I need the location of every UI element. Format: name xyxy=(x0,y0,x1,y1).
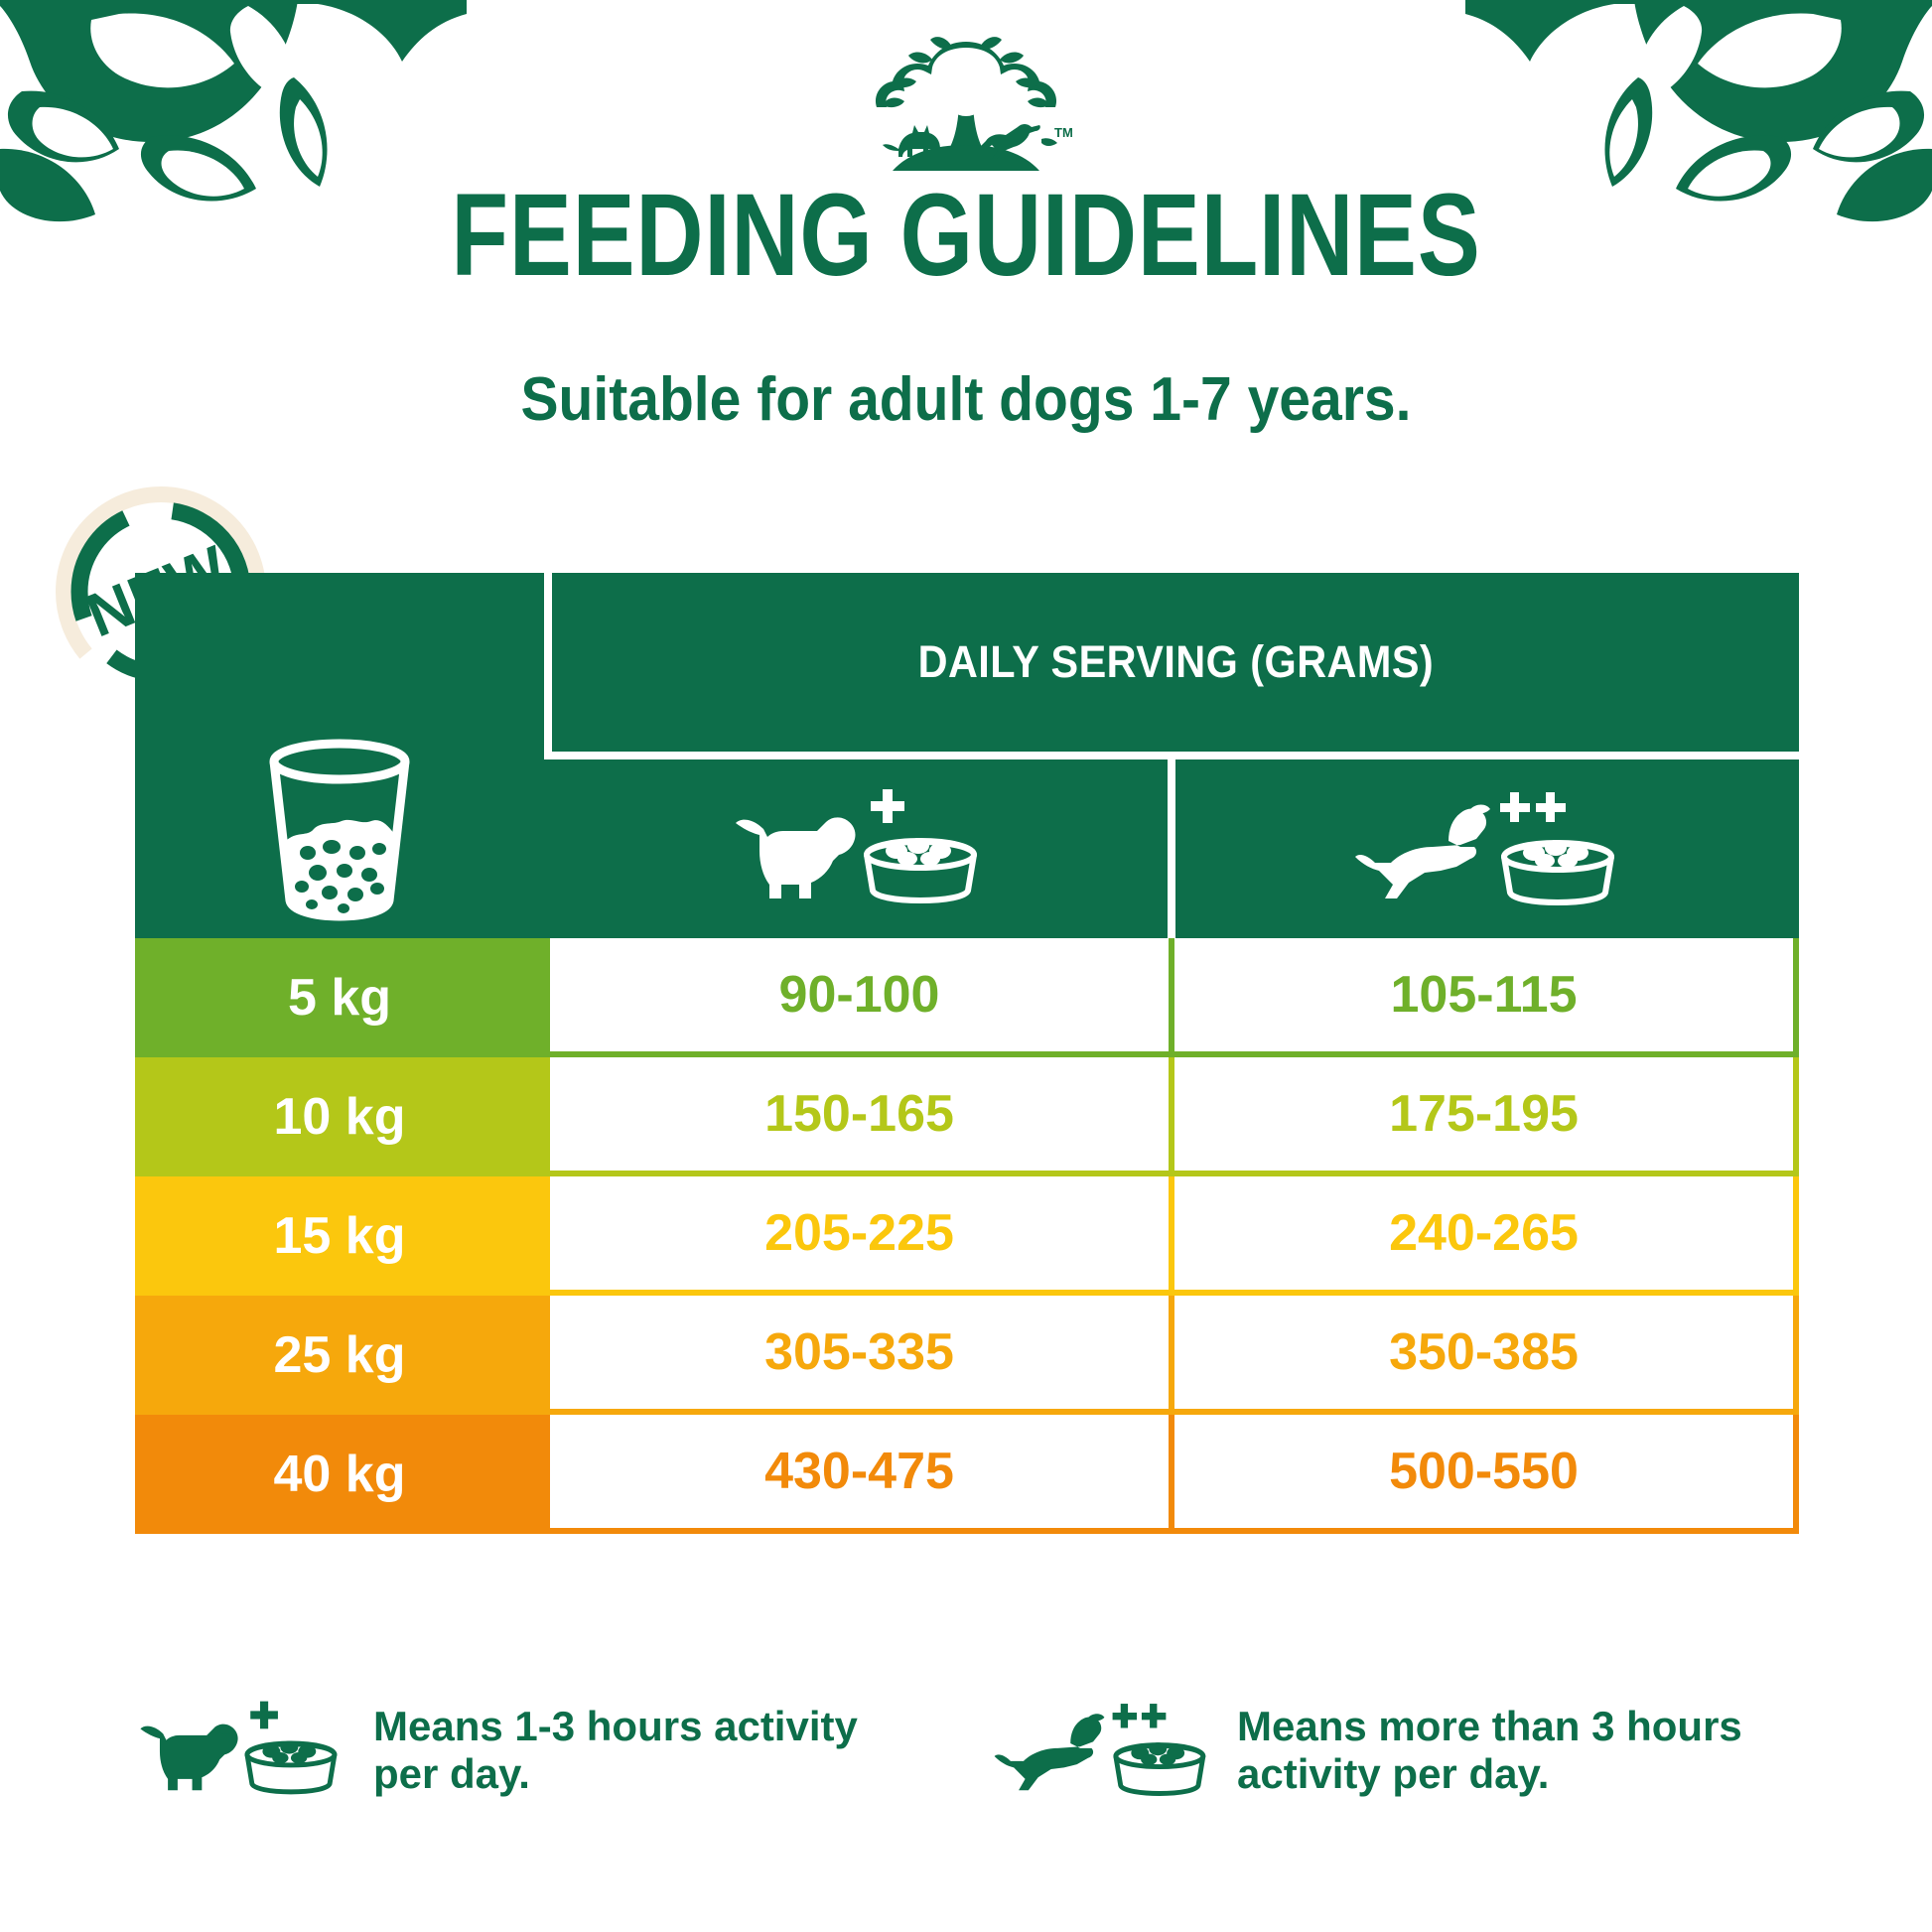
table-row: 15 kg205-225240-265 xyxy=(135,1176,1799,1296)
double-plus-sign-icon xyxy=(1113,1704,1167,1727)
table-row: 25 kg305-335350-385 xyxy=(135,1296,1799,1415)
feeding-table: DAILY SERVING (GRAMS) xyxy=(135,573,1799,1534)
page-subtitle: Suitable for adult dogs 1-7 years. xyxy=(77,369,1855,431)
legend-item-low-activity: Means 1-3 hours activity per day. xyxy=(129,1688,858,1812)
table-row: 5 kg90-100105-115 xyxy=(135,938,1799,1057)
weight-cell: 5 kg xyxy=(135,938,544,1057)
plus-sign-icon xyxy=(250,1702,278,1729)
standing-dog-bowl-icon xyxy=(722,789,990,908)
measuring-cup-cell xyxy=(135,573,544,938)
trademark-label: TM xyxy=(1054,125,1073,140)
serving-cell-high-activity: 500-550 xyxy=(1169,1415,1799,1534)
table-row: 40 kg430-475500-550 xyxy=(135,1415,1799,1534)
serving-cell-low-activity: 430-475 xyxy=(544,1415,1169,1534)
table-body: 5 kg90-100105-11510 kg150-165175-19515 k… xyxy=(135,938,1799,1534)
column-header-high-activity xyxy=(1175,759,1799,938)
weight-cell: 25 kg xyxy=(135,1296,544,1415)
tree-paw-logo-icon: TM xyxy=(857,26,1075,175)
table-row: 10 kg150-165175-195 xyxy=(135,1057,1799,1176)
legend-line-1: Means 1-3 hours activity xyxy=(373,1703,858,1749)
jumping-dog-bowl-icon xyxy=(1353,789,1621,908)
plus-sign-icon xyxy=(871,789,904,823)
legend-line-2: activity per day. xyxy=(1237,1750,1742,1798)
serving-cell-high-activity: 175-195 xyxy=(1169,1057,1799,1176)
serving-cell-high-activity: 240-265 xyxy=(1169,1176,1799,1296)
legend-item-high-activity: Means more than 3 hours activity per day… xyxy=(993,1688,1742,1812)
daily-serving-header: DAILY SERVING (GRAMS) xyxy=(552,573,1799,752)
serving-cell-high-activity: 105-115 xyxy=(1169,938,1799,1057)
column-header-low-activity xyxy=(544,759,1168,938)
serving-cell-low-activity: 305-335 xyxy=(544,1296,1169,1415)
legend-text-low-activity: Means 1-3 hours activity per day. xyxy=(373,1703,858,1798)
jumping-dog-bowl-icon xyxy=(993,1688,1211,1812)
legend-line-2: per day. xyxy=(373,1750,858,1798)
page-title: FEEDING GUIDELINES xyxy=(194,177,1739,294)
weight-cell: 40 kg xyxy=(135,1415,544,1534)
measuring-cup-icon xyxy=(250,726,429,924)
legend-line-1: Means more than 3 hours xyxy=(1237,1703,1742,1749)
serving-cell-low-activity: 150-165 xyxy=(544,1057,1169,1176)
serving-cell-low-activity: 90-100 xyxy=(544,938,1169,1057)
standing-dog-bowl-icon xyxy=(129,1688,347,1812)
weight-cell: 15 kg xyxy=(135,1176,544,1296)
weight-cell: 10 kg xyxy=(135,1057,544,1176)
double-plus-sign-icon xyxy=(1500,792,1566,822)
legend-text-high-activity: Means more than 3 hours activity per day… xyxy=(1237,1703,1742,1798)
serving-cell-low-activity: 205-225 xyxy=(544,1176,1169,1296)
serving-cell-high-activity: 350-385 xyxy=(1169,1296,1799,1415)
feeding-guidelines-poster: TM FEEDING GUIDELINES Suitable for adult… xyxy=(0,0,1932,1932)
brand-logo: TM xyxy=(852,26,1080,175)
